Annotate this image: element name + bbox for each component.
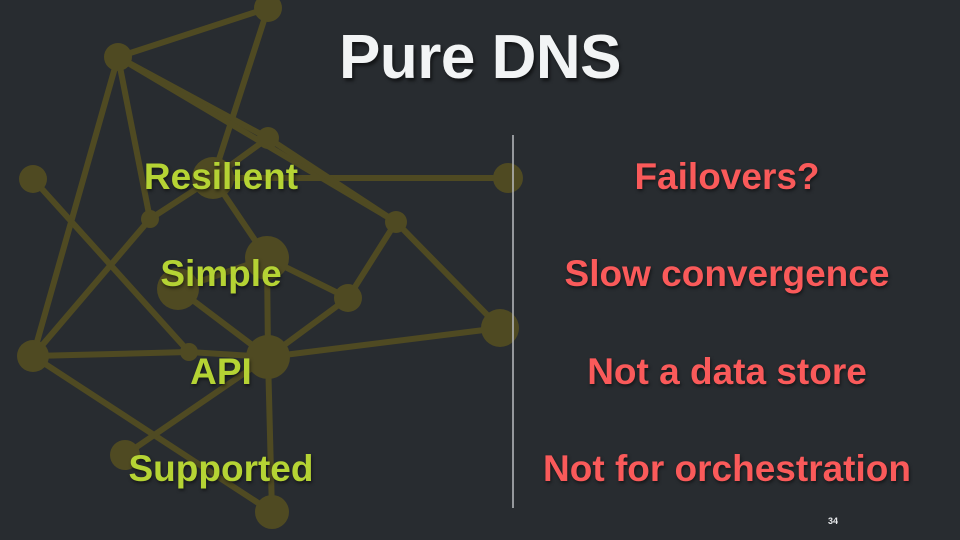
pro-item-0: Resilient xyxy=(0,128,512,226)
pro-item-1: Simple xyxy=(0,226,512,324)
pro-label: API xyxy=(190,351,252,393)
con-label: Slow convergence xyxy=(565,253,890,295)
con-item-1: Slow convergence xyxy=(512,226,960,324)
con-item-0: Failovers? xyxy=(512,128,960,226)
comparison-table: Resilient Failovers? Simple Slow converg… xyxy=(0,128,960,518)
pro-item-3: Supported xyxy=(0,421,512,519)
con-label: Not a data store xyxy=(587,351,867,393)
con-label: Not for orchestration xyxy=(543,448,911,490)
pro-item-2: API xyxy=(0,323,512,421)
con-item-2: Not a data store xyxy=(512,323,960,421)
pro-label: Supported xyxy=(129,448,314,490)
con-item-3: Not for orchestration xyxy=(512,421,960,519)
pro-label: Simple xyxy=(160,253,281,295)
column-divider xyxy=(512,135,514,508)
con-label: Failovers? xyxy=(634,156,819,198)
page-number: 34 xyxy=(828,516,838,526)
presentation-slide: Pure DNS Resilient Failovers? Simple Slo… xyxy=(0,0,960,540)
pro-label: Resilient xyxy=(144,156,298,198)
page-title: Pure DNS xyxy=(0,22,960,93)
